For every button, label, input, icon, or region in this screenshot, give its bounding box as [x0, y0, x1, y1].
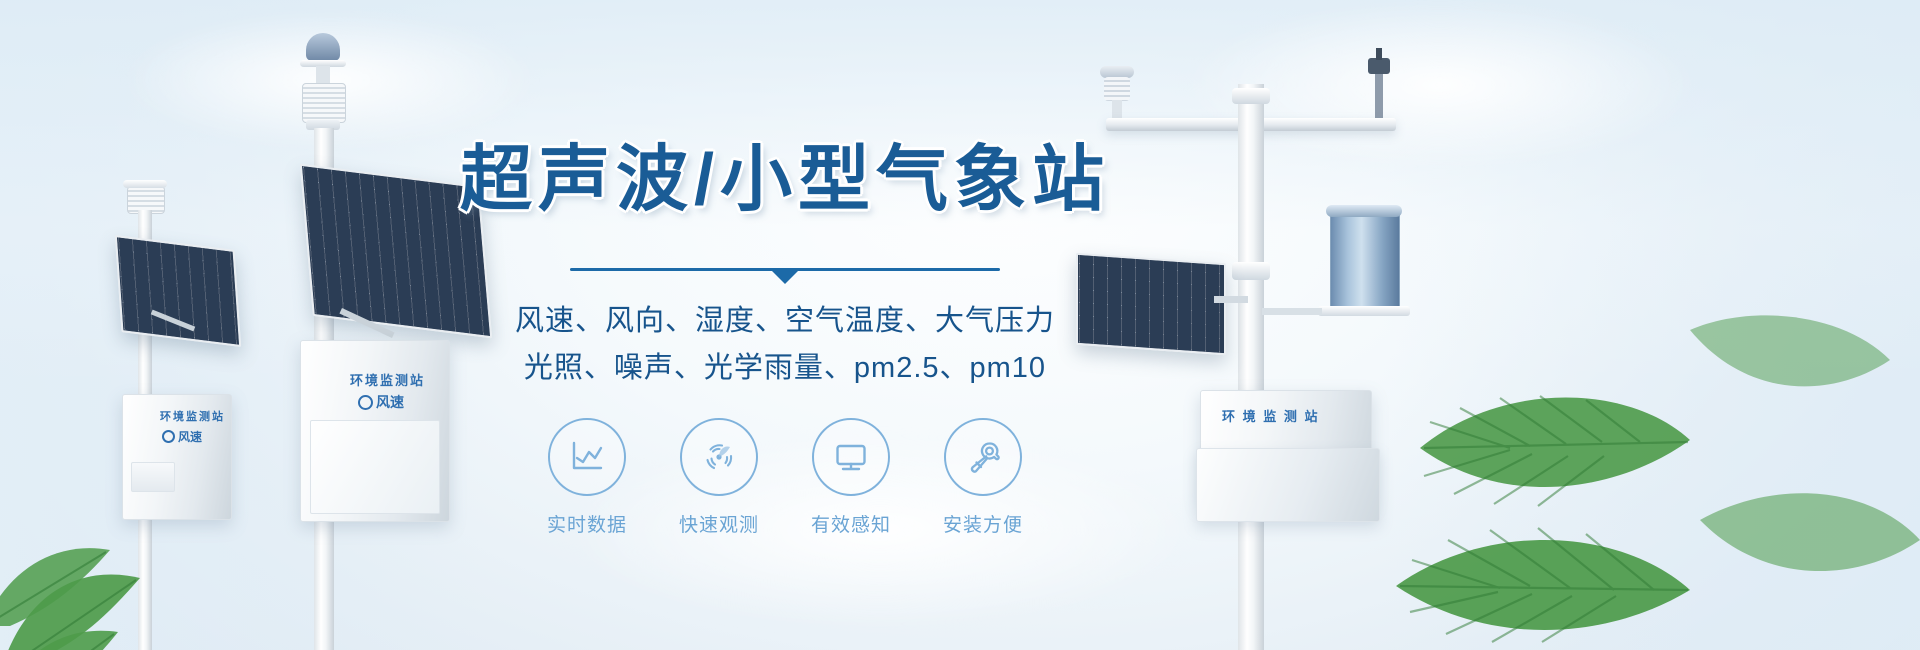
anemometer-body	[1104, 77, 1130, 101]
enclosure-lower-right	[1196, 448, 1380, 522]
brand-text-mid: 风速	[376, 392, 404, 412]
wind-vane-icon	[1368, 58, 1390, 74]
feature-label: 安装方便	[939, 510, 1027, 537]
wrench-icon	[944, 418, 1022, 496]
feature-list: 实时数据 快速观测	[440, 418, 1130, 537]
brand-mark-mid-icon	[358, 395, 373, 410]
feature-label: 快速观测	[675, 510, 763, 537]
panel-bracket-right	[1214, 296, 1248, 303]
sensor-stem-mid	[316, 66, 330, 84]
shield-cap	[123, 180, 167, 188]
rain-gauge-rim	[1326, 205, 1402, 217]
banner-content: 超声波/小型气象站 风速、风向、湿度、空气温度、大气压力 光照、噪声、光学雨量、…	[440, 96, 1130, 566]
feature-label: 实时数据	[543, 510, 631, 537]
product-banner: 环境监测站 风速 环境监测站 风速 超声波/小型气象站	[0, 0, 1920, 650]
monitor-icon	[812, 418, 890, 496]
leaf-decor-right	[1390, 290, 1920, 650]
enclosure-label-right: 环 境 监 测 站	[1222, 406, 1319, 425]
subtitle-line-1: 风速、风向、湿度、空气温度、大气压力	[440, 298, 1130, 345]
mast-right	[1238, 84, 1264, 650]
radar-wind-icon	[680, 418, 758, 496]
ultrasonic-sensor-dome-icon	[306, 33, 340, 61]
enclosure-door-mid	[310, 420, 440, 514]
feature-item-easy-install[interactable]: 安装方便	[939, 418, 1027, 537]
radiation-shield-mid-icon	[302, 83, 346, 123]
feature-item-effective-sensing[interactable]: 有效感知	[807, 418, 895, 537]
feature-item-realtime-data[interactable]: 实时数据	[543, 418, 631, 537]
mast-collar-mid	[1232, 262, 1270, 280]
brand-logo-mid: 风速	[358, 392, 404, 412]
line-chart-icon	[548, 418, 626, 496]
solar-panel-right	[1076, 253, 1226, 355]
enclosure-label-mid: 环境监测站	[350, 370, 425, 389]
title-divider	[570, 268, 1000, 284]
rain-gauge-bracket	[1262, 308, 1322, 315]
feature-label: 有效感知	[807, 510, 895, 537]
page-title: 超声波/小型气象站	[440, 138, 1130, 222]
divider-arrow-icon	[772, 271, 798, 284]
mast-collar-top	[1232, 88, 1270, 104]
wind-vane-tip	[1376, 48, 1382, 60]
subtitle-line-2: 光照、噪声、光学雨量、pm2.5、pm10	[440, 345, 1130, 392]
feature-item-fast-observation[interactable]: 快速观测	[675, 418, 763, 537]
leaf-decor-left	[0, 326, 220, 650]
wind-vane-stem	[1375, 74, 1383, 122]
